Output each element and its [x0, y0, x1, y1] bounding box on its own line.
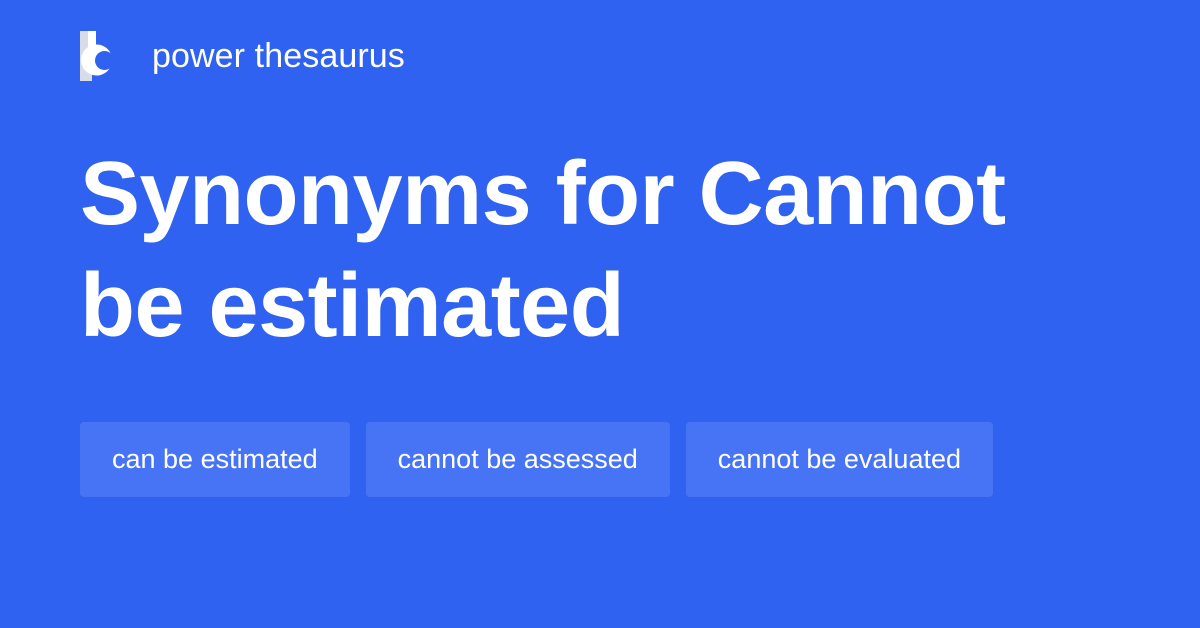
power-thesaurus-b-logo-icon — [80, 31, 126, 81]
synonym-chip[interactable]: cannot be assessed — [366, 422, 670, 497]
page-title: Synonyms for Cannot be estimated — [80, 138, 1090, 362]
synonym-chip-list: can be estimated cannot be assessed cann… — [80, 422, 1130, 497]
brand-header[interactable]: power thesaurus — [80, 28, 405, 84]
brand-name: power thesaurus — [152, 39, 405, 73]
synonym-chip[interactable]: can be estimated — [80, 422, 350, 497]
share-card: power thesaurus Synonyms for Cannot be e… — [0, 0, 1200, 628]
synonym-chip[interactable]: cannot be evaluated — [686, 422, 993, 497]
